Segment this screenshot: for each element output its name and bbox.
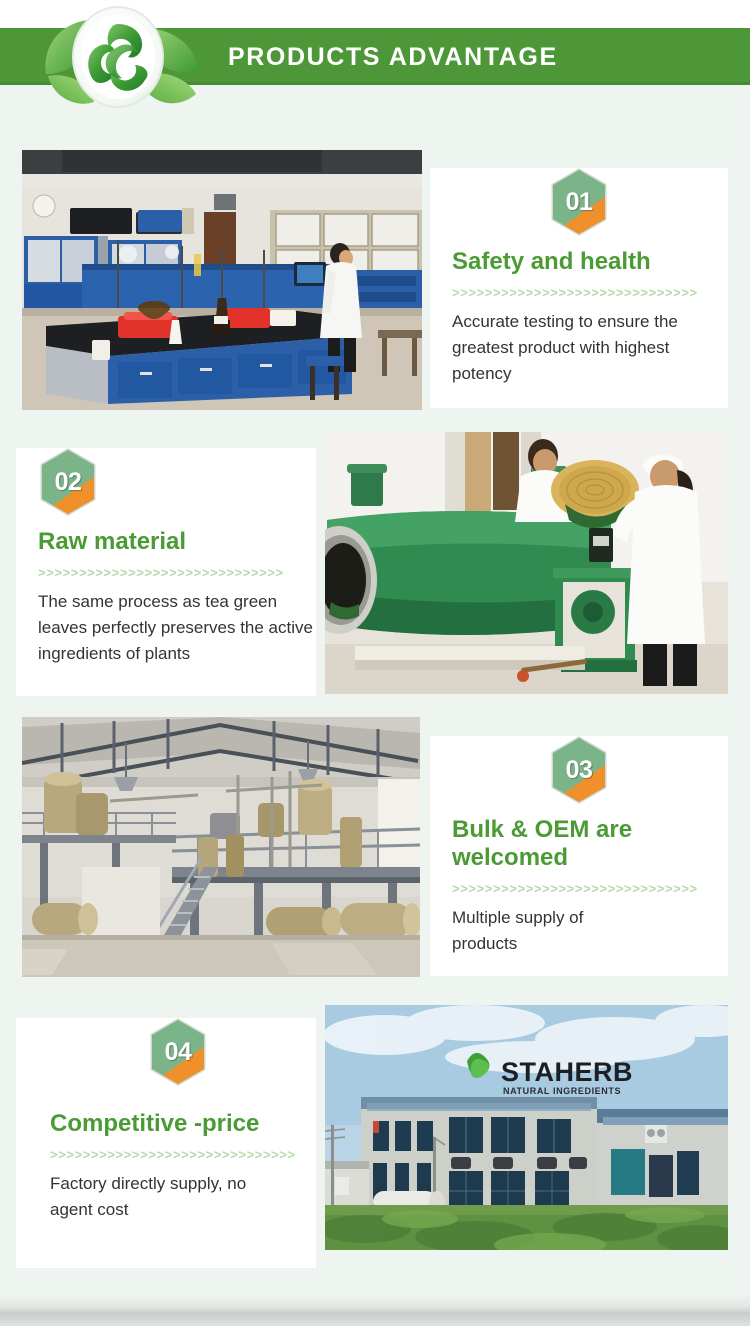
badge-number-1: 01: [549, 168, 609, 236]
badge-number-4: 04: [148, 1018, 208, 1086]
chevron-divider-2: >>>>>>>>>>>>>>>>>>>>>>>>>>>>>>: [38, 565, 316, 581]
card-text-1: 01 Safety and health >>>>>>>>>>>>>>>>>>>…: [430, 168, 728, 408]
chevron-divider-4: >>>>>>>>>>>>>>>>>>>>>>>>>>>>>>: [50, 1147, 302, 1163]
badge-number-2-value: 02: [38, 448, 98, 516]
card-photo-3: [22, 717, 420, 977]
tea-roasting-machine-photo: [325, 432, 728, 694]
advantage-title-1: Safety and health: [452, 248, 706, 276]
card-text-3: 03 Bulk & OEM are welcomed >>>>>>>>>>>>>…: [430, 736, 728, 976]
sign-subtext: NATURAL INGREDIENTS: [503, 1086, 621, 1096]
staherb-leaf-logo: [30, 2, 220, 112]
badge-number-1-value: 01: [549, 168, 609, 236]
factory-workshop-photo: [22, 717, 420, 977]
bottom-edge-strip: [0, 1294, 750, 1326]
chevron-divider-1: >>>>>>>>>>>>>>>>>>>>>>>>>>>>>>: [452, 285, 706, 301]
page-title: PRODUCTS ADVANTAGE: [228, 40, 558, 74]
advantage-title-4: Competitive -price: [50, 1110, 302, 1138]
chevron-divider-3: >>>>>>>>>>>>>>>>>>>>>>>>>>>>>>: [452, 881, 706, 897]
advantage-description-2: The same process as tea green leaves per…: [38, 589, 316, 667]
advantage-title-3: Bulk & OEM are welcomed: [452, 816, 667, 872]
advantage-description-1: Accurate testing to ensure the greatest …: [452, 309, 706, 387]
advantage-title-2: Raw material: [38, 528, 316, 556]
advantage-description-4: Factory directly supply, no agent cost: [50, 1171, 250, 1223]
badge-number-4-value: 04: [148, 1018, 208, 1086]
badge-number-2: 02: [38, 448, 98, 516]
page-header: PRODUCTS ADVANTAGE: [0, 0, 750, 112]
badge-number-3-value: 03: [549, 736, 609, 804]
badge-number-3: 03: [549, 736, 609, 804]
factory-building-photo: STAHERB NATURAL INGREDIENTS: [325, 1005, 728, 1250]
card-text-4: 04 Competitive -price >>>>>>>>>>>>>>>>>>…: [16, 1018, 316, 1268]
card-photo-2: [325, 432, 728, 694]
card-text-2: 02 Raw material >>>>>>>>>>>>>>>>>>>>>>>>…: [16, 448, 316, 696]
sign-text: STAHERB: [501, 1057, 633, 1087]
laboratory-photo: [22, 150, 422, 410]
card-photo-1: [22, 150, 422, 410]
advantage-description-3: Multiple supply of products: [452, 905, 622, 957]
card-photo-4: STAHERB NATURAL INGREDIENTS: [325, 1005, 728, 1250]
